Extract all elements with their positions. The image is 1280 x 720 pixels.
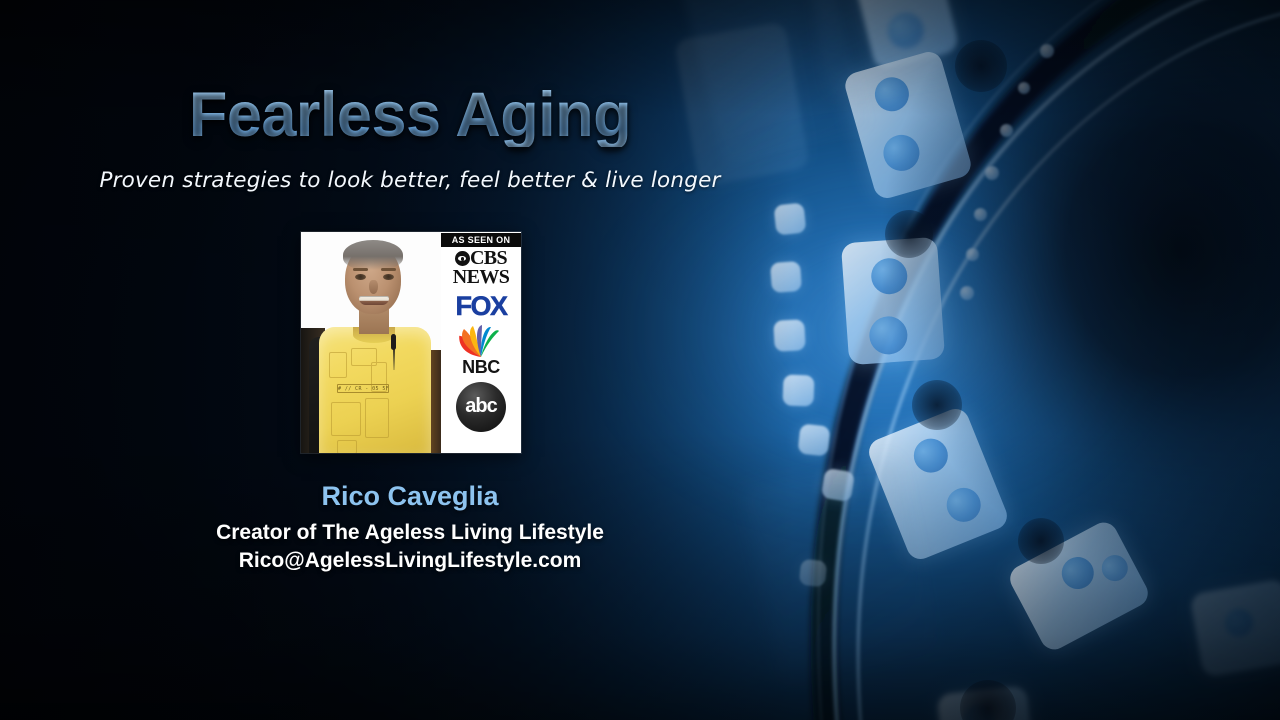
nbc-peacock-icon — [453, 324, 509, 358]
speaker-portrait: # // CR - 05 5F it — [301, 232, 441, 453]
lapel-mic-wire — [393, 348, 395, 370]
portrait-eye — [383, 274, 394, 280]
cbs-eye-icon — [455, 251, 470, 266]
portrait-mouth — [359, 296, 389, 305]
speaker-email: Rico@AgelessLivingLifestyle.com — [0, 549, 820, 573]
page-title: Fearless Aging — [0, 83, 820, 147]
speaker-name: Rico Caveglia — [0, 481, 820, 512]
page-subtitle: Proven strategies to look better, feel b… — [0, 168, 820, 193]
shirt-label: # // CR - 05 5F it — [337, 384, 389, 393]
nbc-wordmark: NBC — [441, 358, 521, 377]
portrait-eye — [355, 274, 366, 280]
nbc-logo: NBC — [441, 324, 521, 379]
cbs-news-logo: CBS NEWS — [441, 249, 521, 289]
portrait-nose — [369, 280, 378, 294]
speaker-title: Creator of The Ageless Living Lifestyle — [0, 521, 820, 545]
cbs-line-2: NEWS — [441, 268, 521, 287]
fox-logo: FOX — [441, 292, 521, 320]
speaker-photo-card: # // CR - 05 5F it AS SEEN ON — [301, 232, 521, 453]
portrait-brow — [381, 268, 396, 271]
portrait-brow — [353, 268, 368, 271]
portrait-hair — [343, 240, 403, 270]
as-seen-on-label: AS SEEN ON — [441, 233, 521, 247]
as-seen-on-strip: AS SEEN ON CBS NEWS FOX — [441, 232, 521, 453]
presentation-slide: Fearless Aging Proven strategies to look… — [0, 0, 1280, 720]
abc-wordmark: abc — [456, 395, 506, 417]
abc-logo: abc — [441, 382, 521, 444]
abc-circle-icon: abc — [456, 382, 506, 432]
